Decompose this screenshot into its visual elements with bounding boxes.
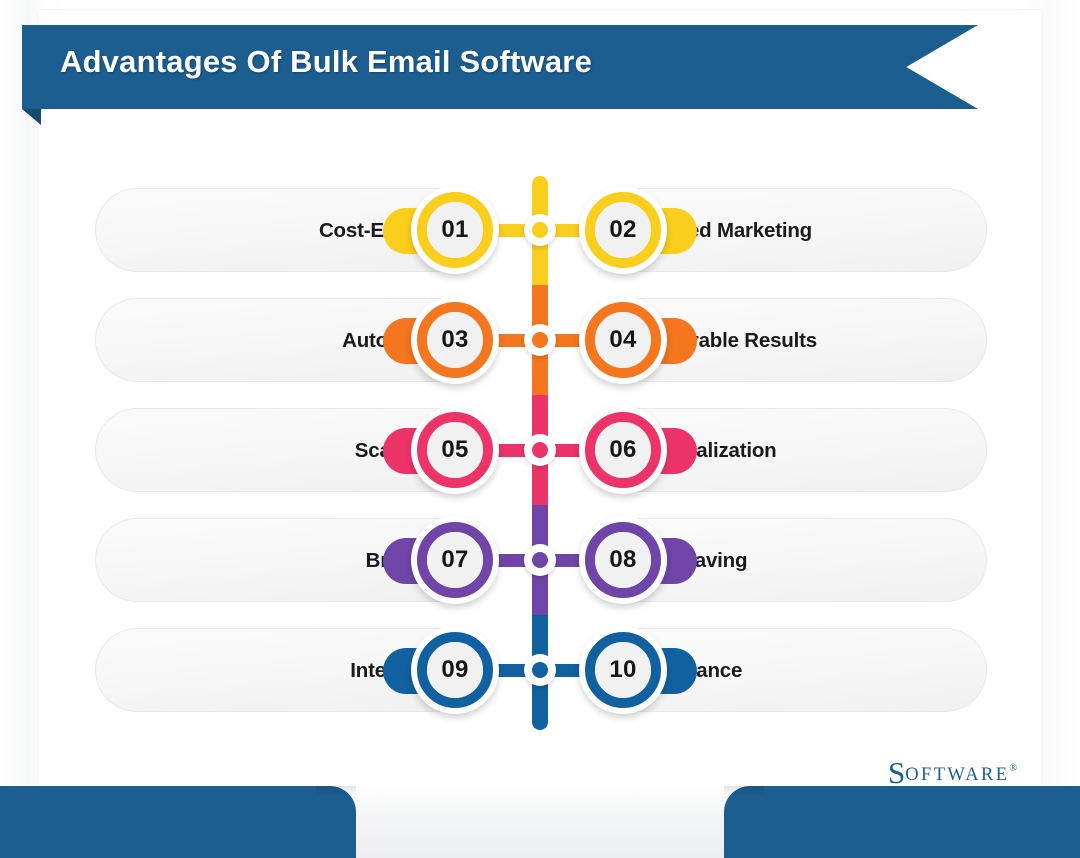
step-number-left: 07: [441, 546, 468, 574]
step-circle-right[interactable]: 02: [579, 186, 667, 274]
timeline-node: [524, 324, 556, 356]
step-ring-left: 09: [417, 632, 493, 708]
step-ring-left: 03: [417, 302, 493, 378]
step-ring-right: 10: [585, 632, 661, 708]
step-number-left: 03: [441, 326, 468, 354]
timeline-node-dot: [532, 332, 548, 348]
step-ring-inner-left: 03: [427, 312, 483, 368]
timeline-node: [524, 544, 556, 576]
step-circle-right[interactable]: 04: [579, 296, 667, 384]
step-number-left: 09: [441, 656, 468, 684]
step-ring-inner-left: 01: [427, 202, 483, 258]
step-ring-inner-left: 09: [427, 642, 483, 698]
step-number-left: 05: [441, 436, 468, 464]
step-ring-inner-right: 06: [595, 422, 651, 478]
step-ring-right: 04: [585, 302, 661, 378]
step-ring-inner-right: 10: [595, 642, 651, 698]
page-title: Advantages Of Bulk Email Software: [60, 44, 592, 80]
softwaresuggest-logo: Software® Suggest: [888, 757, 1017, 820]
logo-line-suggest: Suggest: [890, 789, 1017, 820]
timeline-node: [524, 214, 556, 246]
step-circle-left[interactable]: 05: [411, 406, 499, 494]
step-circle-left[interactable]: 03: [411, 296, 499, 384]
step-circle-right[interactable]: 06: [579, 406, 667, 494]
timeline-node: [524, 654, 556, 686]
step-ring-inner-left: 05: [427, 422, 483, 478]
step-ring-inner-right: 08: [595, 532, 651, 588]
timeline-node-dot: [532, 552, 548, 568]
step-number-right: 10: [609, 656, 636, 684]
step-number-left: 01: [441, 216, 468, 244]
step-circle-right[interactable]: 08: [579, 516, 667, 604]
step-ring-right: 06: [585, 412, 661, 488]
timeline-node-dot: [532, 662, 548, 678]
advantages-list: Cost-EffectiveTargeted Marketing0102Auto…: [0, 0, 1080, 858]
step-ring-right: 02: [585, 192, 661, 268]
step-ring-left: 01: [417, 192, 493, 268]
logo-text-suggest: uggest: [907, 797, 994, 817]
step-number-right: 08: [609, 546, 636, 574]
step-number-right: 02: [609, 216, 636, 244]
step-ring-inner-right: 02: [595, 202, 651, 258]
step-circle-left[interactable]: 07: [411, 516, 499, 604]
timeline-node-dot: [532, 442, 548, 458]
logo-cap-s1: S: [888, 755, 905, 790]
step-ring-inner-left: 07: [427, 532, 483, 588]
step-ring-left: 05: [417, 412, 493, 488]
step-number-right: 04: [609, 326, 636, 354]
logo-cap-s2: S: [890, 787, 907, 822]
step-number-right: 06: [609, 436, 636, 464]
step-circle-left[interactable]: 01: [411, 186, 499, 274]
step-ring-right: 08: [585, 522, 661, 598]
step-circle-right[interactable]: 10: [579, 626, 667, 714]
step-circle-left[interactable]: 09: [411, 626, 499, 714]
logo-text-software: oftware: [905, 765, 1009, 785]
registered-icon: ®: [1009, 763, 1017, 774]
timeline-node-dot: [532, 222, 548, 238]
infographic-page: Advantages Of Bulk Email Software Cost-E…: [0, 0, 1080, 858]
step-ring-inner-right: 04: [595, 312, 651, 368]
timeline-node: [524, 434, 556, 466]
step-ring-left: 07: [417, 522, 493, 598]
logo-line-software: Software®: [888, 757, 1017, 788]
